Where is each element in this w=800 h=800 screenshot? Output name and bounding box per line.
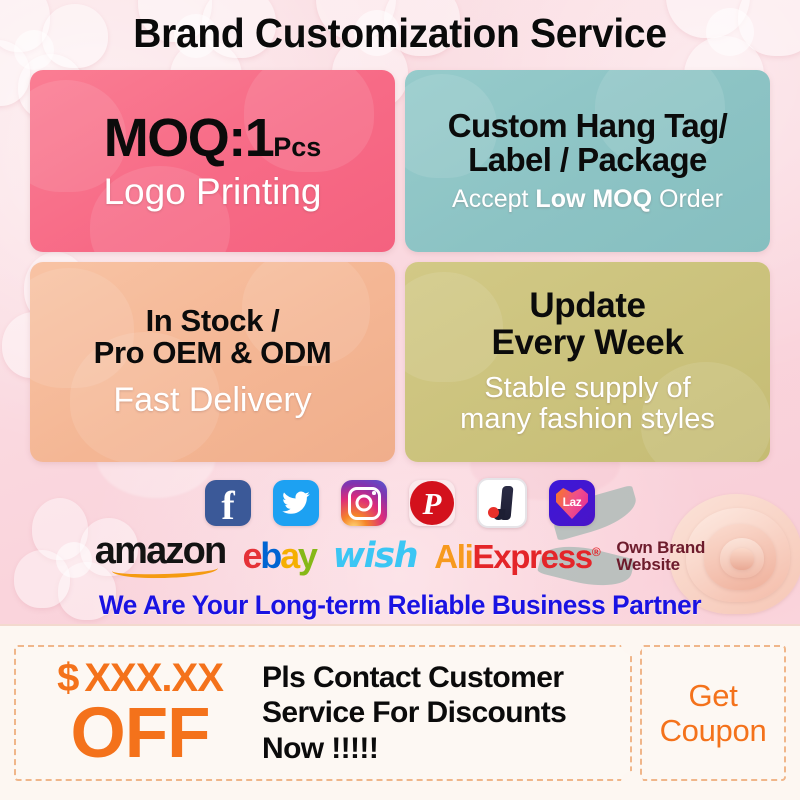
page-title: Brand Customization Service — [20, 2, 780, 64]
pinterest-glyph: P — [410, 481, 454, 525]
update-sub-line1: Stable supply of — [460, 373, 715, 404]
lazada-label: Laz — [563, 495, 582, 509]
instagram-icon[interactable] — [341, 480, 387, 526]
ebay-letter-a: a — [280, 535, 298, 576]
coupon-ticket[interactable]: $XXX.XX OFF Pls Contact Customer Service… — [14, 645, 632, 781]
moq-value: MOQ:1 — [104, 108, 274, 168]
social-icon-row: f P Laz — [0, 478, 800, 528]
own-brand-line1: Own Brand — [616, 539, 705, 556]
in-stock-headline-line1: In Stock / — [94, 305, 332, 337]
lazada-heart-glyph: Laz — [555, 487, 589, 519]
moq-headline: MOQ:1Pcs — [104, 110, 322, 166]
feature-card-moq[interactable]: MOQ:1Pcs Logo Printing — [30, 70, 395, 252]
coupon-message: Pls Contact Customer Service For Discoun… — [248, 660, 630, 765]
coupon-amount: $XXX.XX OFF — [16, 658, 248, 768]
wish-logo[interactable]: wish — [333, 539, 417, 574]
get-coupon-button[interactable]: Get Coupon — [640, 645, 786, 781]
coupon-message-line3: Now !!!!! — [262, 731, 630, 766]
feature-card-grid: MOQ:1Pcs Logo Printing Custom Hang Tag/ … — [30, 70, 770, 462]
own-brand-website-logo[interactable]: Own Brand Website — [616, 539, 705, 574]
coupon-off-label: OFF — [32, 700, 248, 768]
hang-tag-sub-pre: Accept — [452, 185, 535, 213]
wish-wordmark: wish — [333, 536, 417, 576]
coupon-perforation — [632, 645, 634, 781]
coupon-message-line2: Service For Discounts — [262, 695, 630, 730]
lazada-icon[interactable]: Laz — [549, 480, 595, 526]
moq-subline: Logo Printing — [103, 172, 321, 212]
twitter-icon[interactable] — [273, 480, 319, 526]
ebay-letter-y: y — [298, 535, 316, 576]
amazon-logo[interactable]: amazon — [95, 532, 226, 580]
hang-tag-sub-post: Order — [652, 185, 723, 213]
joom-icon[interactable] — [477, 478, 527, 528]
amazon-swoosh-icon — [112, 560, 218, 580]
update-subline: Stable supply of many fashion styles — [460, 373, 715, 436]
ebay-letter-b: b — [260, 535, 280, 576]
hang-tag-headline-line1: Custom Hang Tag/ — [448, 109, 727, 143]
joom-j-glyph — [500, 486, 514, 520]
in-stock-headline-line2: Pro OEM & ODM — [94, 337, 332, 369]
coupon-message-line1: Pls Contact Customer — [262, 660, 630, 695]
get-coupon-line1: Get — [660, 678, 767, 713]
hang-tag-sub-bold: Low MOQ — [535, 185, 652, 213]
pinterest-icon[interactable]: P — [409, 480, 455, 526]
aliexpress-ali: Ali — [434, 538, 472, 575]
instagram-camera-glyph — [348, 487, 381, 520]
in-stock-headline: In Stock / Pro OEM & ODM — [94, 305, 332, 369]
coupon-section: $XXX.XX OFF Pls Contact Customer Service… — [0, 624, 800, 800]
moq-unit: Pcs — [273, 132, 321, 162]
ebay-letter-e: e — [242, 535, 260, 576]
joom-dot-glyph — [488, 507, 499, 518]
feature-card-hang-tag[interactable]: Custom Hang Tag/ Label / Package Accept … — [405, 70, 770, 252]
ebay-logo[interactable]: ebay — [242, 538, 315, 574]
marketplace-logo-row: amazon ebay wish AliExpress® Own Brand W… — [0, 530, 800, 582]
coupon-amount-row: $XXX.XX — [32, 658, 248, 698]
get-coupon-line2: Coupon — [660, 713, 767, 748]
hang-tag-headline: Custom Hang Tag/ Label / Package — [448, 109, 727, 178]
aliexpress-express: Express — [472, 538, 591, 575]
update-headline-line2: Every Week — [492, 325, 684, 361]
aliexpress-trademark-icon: ® — [592, 545, 600, 559]
tagline: We Are Your Long-term Reliable Business … — [12, 586, 788, 624]
promo-banner: Brand Customization Service MOQ:1Pcs Log… — [0, 0, 800, 800]
update-headline: Update Every Week — [492, 288, 684, 361]
own-brand-line2: Website — [616, 556, 705, 573]
in-stock-subline: Fast Delivery — [113, 382, 311, 419]
facebook-icon[interactable]: f — [205, 480, 251, 526]
feature-card-in-stock[interactable]: In Stock / Pro OEM & ODM Fast Delivery — [30, 262, 395, 462]
hang-tag-subline: Accept Low MOQ Order — [452, 186, 723, 213]
aliexpress-logo[interactable]: AliExpress® — [434, 540, 599, 573]
feature-card-update[interactable]: Update Every Week Stable supply of many … — [405, 262, 770, 462]
hang-tag-headline-line2: Label / Package — [448, 143, 727, 177]
facebook-glyph: f — [205, 486, 251, 526]
update-sub-line2: many fashion styles — [460, 404, 715, 435]
update-headline-line1: Update — [492, 288, 684, 324]
